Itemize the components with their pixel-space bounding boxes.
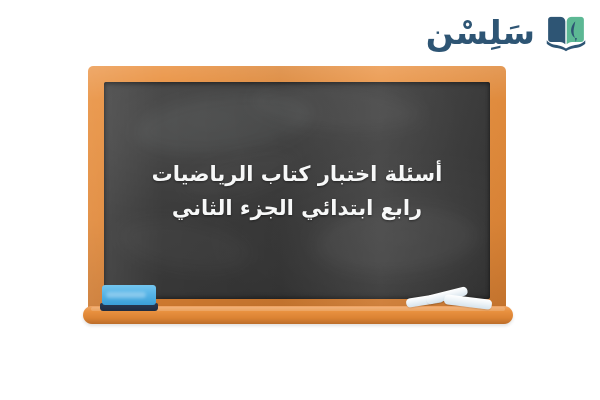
open-book-icon [544, 10, 588, 54]
blackboard: أسئلة اختبار كتاب الرياضيات رابع ابتدائي… [88, 66, 508, 330]
brand-name: سَلِسْن [426, 16, 535, 49]
chalkboard-eraser[interactable] [100, 285, 158, 311]
page-canvas: سَلِسْن [0, 0, 600, 400]
chalk-sticks[interactable] [406, 285, 504, 311]
board-title-line-2: رابع ابتدائي الجزء الثاني [122, 191, 472, 225]
board-frame: أسئلة اختبار كتاب الرياضيات رابع ابتدائي… [88, 66, 506, 314]
board-slate-surface: أسئلة اختبار كتاب الرياضيات رابع ابتدائي… [104, 82, 490, 299]
brand-logo[interactable]: سَلِسْن [426, 6, 588, 58]
chalk-smudge-icon [249, 82, 422, 137]
chalk-stick [444, 294, 493, 310]
eraser-highlight [106, 292, 146, 298]
board-title-block: أسئلة اختبار كتاب الرياضيات رابع ابتدائي… [104, 156, 490, 224]
chalk-smudge-icon [132, 84, 315, 162]
board-title-line-1: أسئلة اختبار كتاب الرياضيات [122, 156, 472, 190]
